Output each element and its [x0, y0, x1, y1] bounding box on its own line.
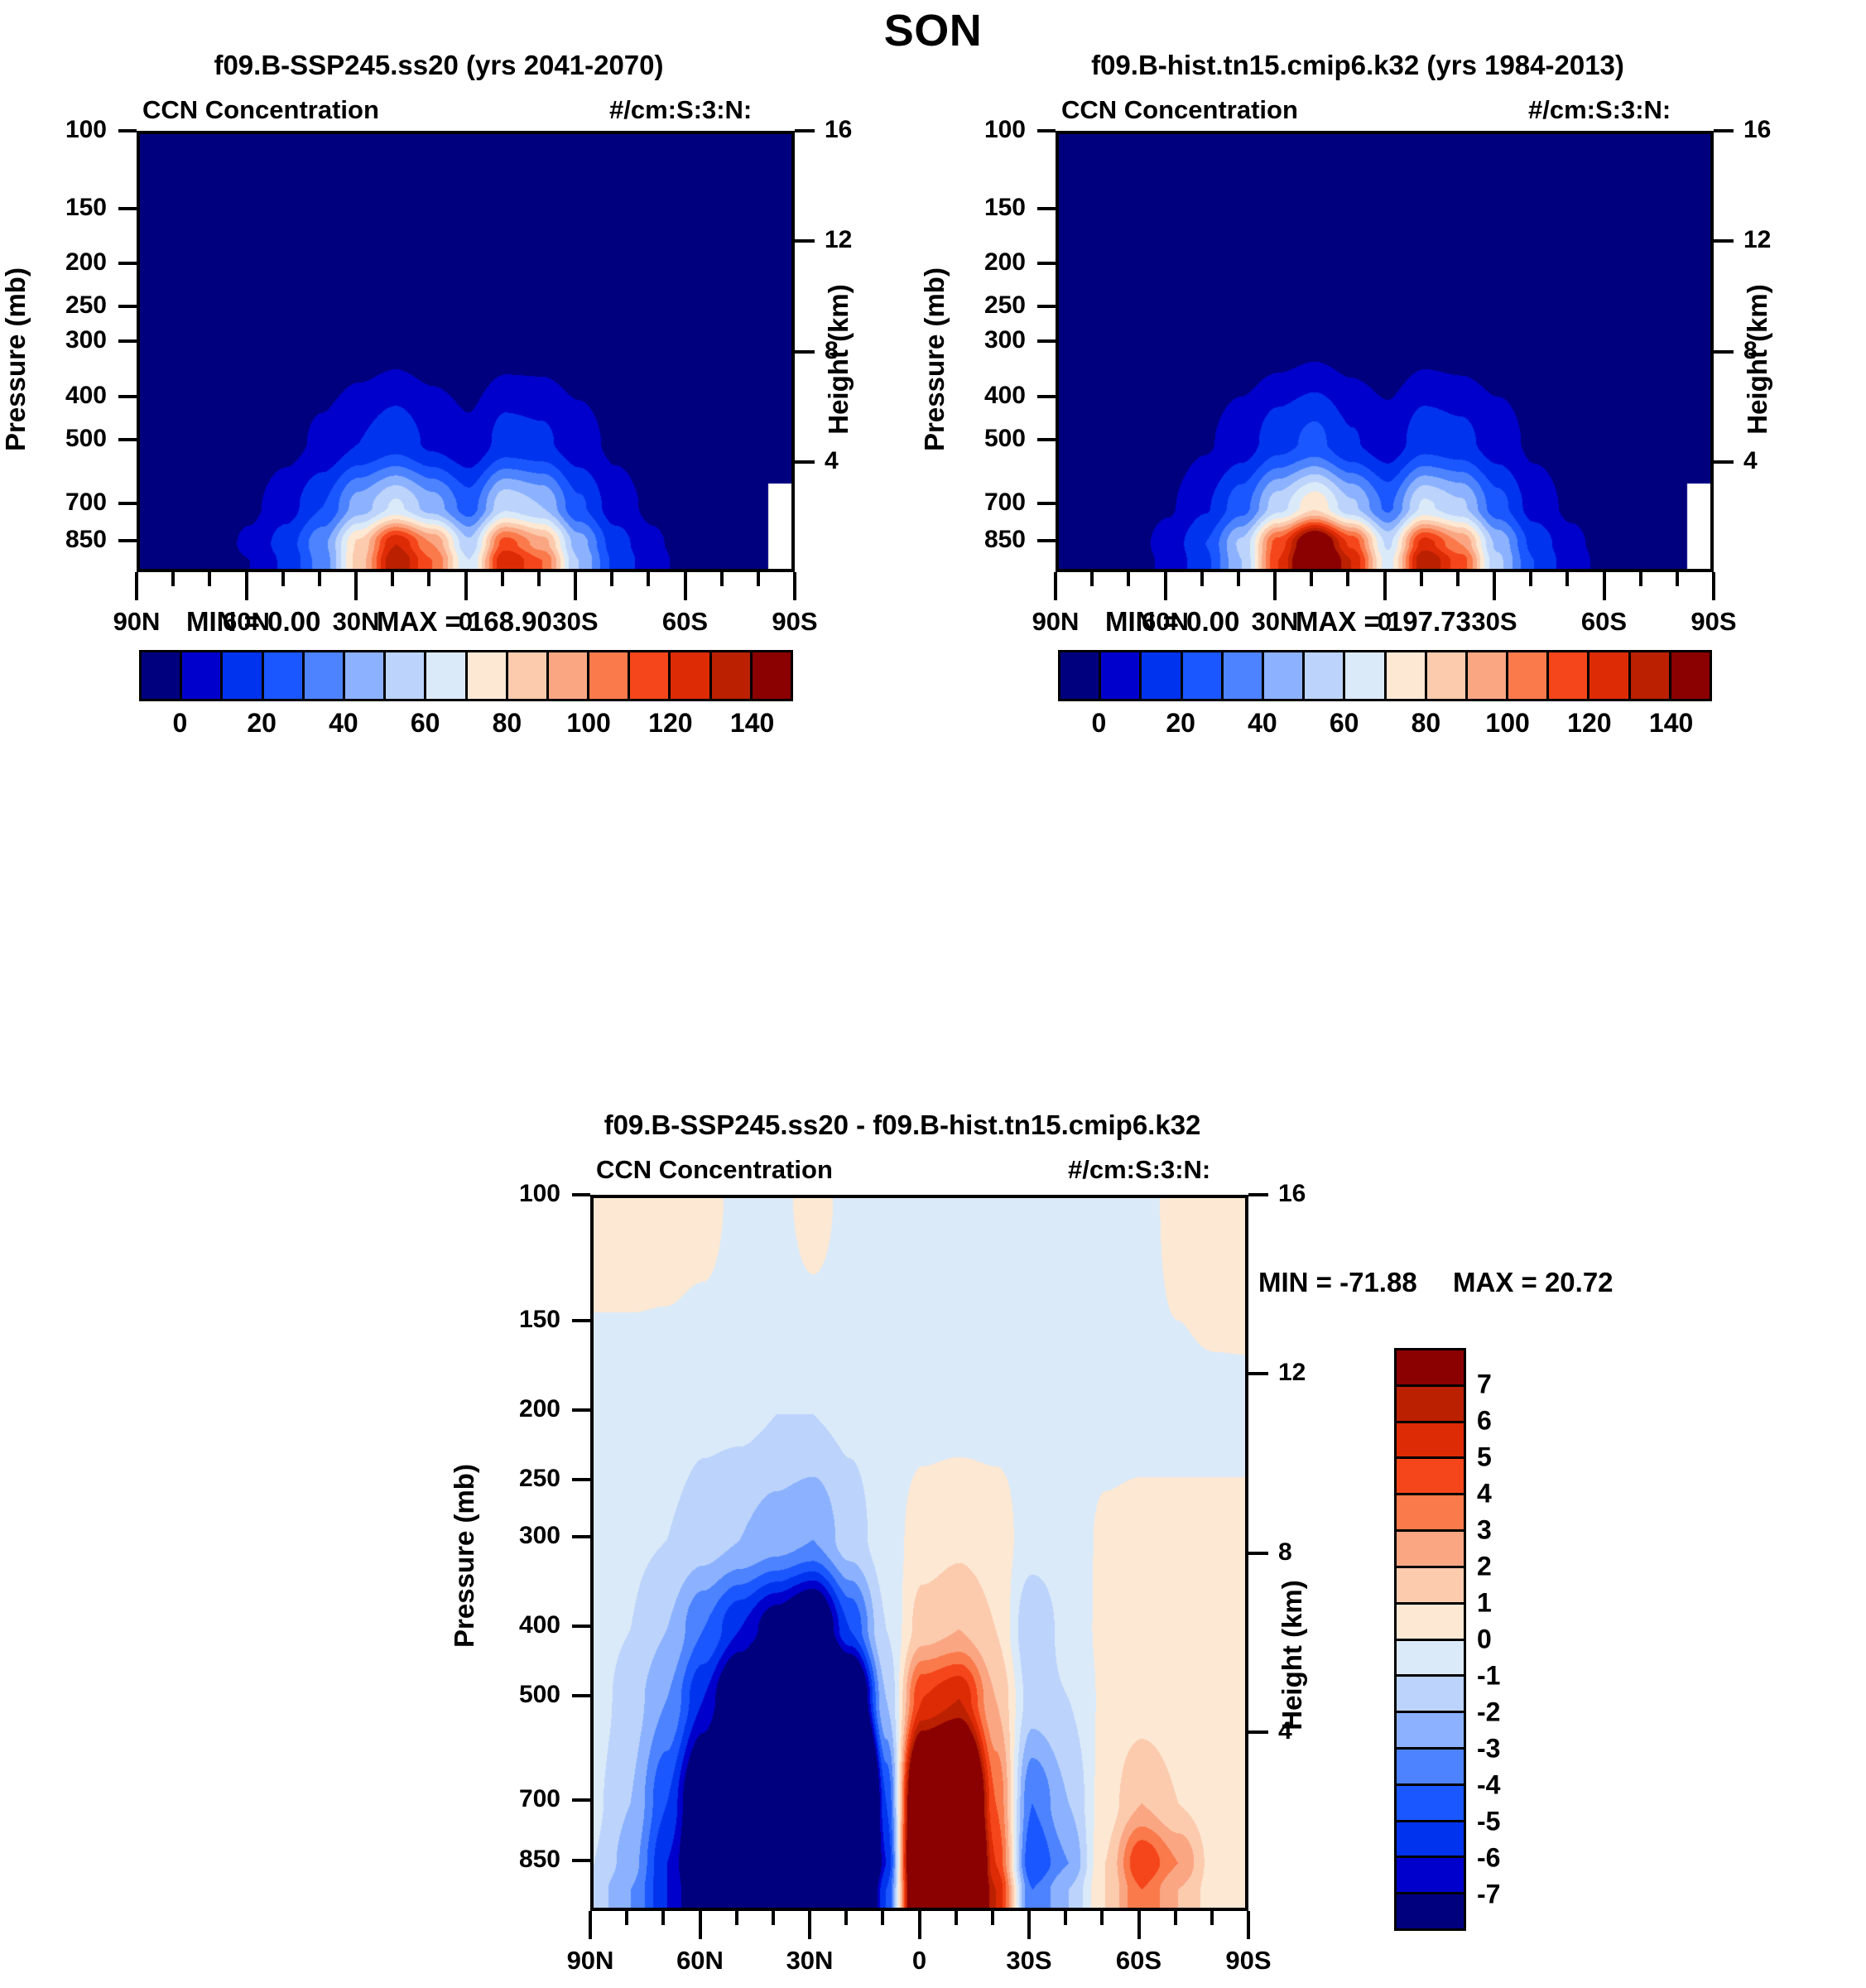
y-tick-label: 200: [940, 248, 1026, 277]
colorbar-segment: [1631, 652, 1671, 699]
x-tick-mark-minor: [735, 1911, 738, 1925]
colorbar-tick-label: -1: [1477, 1661, 1500, 1692]
y2-tick-label: 16: [1278, 1180, 1306, 1208]
colorbar-segment: [1183, 652, 1224, 699]
x-tick-mark-major: [1054, 572, 1057, 600]
y2-tick-label: 8: [1743, 337, 1758, 365]
colorbar-segment: [468, 652, 508, 699]
y-tick-label: 100: [940, 116, 1026, 144]
y-tick-label: 200: [474, 1395, 560, 1423]
x-tick-mark-major: [1493, 572, 1496, 600]
colorbar-labels-difference: 76543210-1-2-3-4-5-6-7: [1477, 1348, 1543, 1931]
y-tick-label: 200: [21, 248, 107, 277]
x-tick-mark-minor: [1310, 572, 1313, 586]
colorbar-tick-label: 0: [172, 708, 187, 739]
colorbar-segment: [1397, 1605, 1464, 1641]
colorbar-segment: [753, 652, 791, 699]
y-tick-mark: [1037, 129, 1056, 132]
x-tick-mark-minor: [1064, 1911, 1067, 1925]
colorbar-segment: [712, 652, 753, 699]
y-tick-mark: [572, 1478, 590, 1481]
y-tick-label: 250: [474, 1465, 560, 1493]
x-tick-label: 30N: [298, 607, 414, 637]
x-tick-mark-minor: [955, 1911, 958, 1925]
x-tick-label: 30N: [1217, 607, 1333, 637]
x-tick-mark-major: [793, 572, 796, 600]
colorbar-tick-label: -5: [1477, 1807, 1500, 1837]
y-tick-mark: [118, 502, 137, 505]
colorbar-tick-label: 120: [1567, 708, 1611, 739]
y-tick-mark: [118, 339, 137, 343]
y2-tick-mark: [1248, 1193, 1268, 1196]
x-tick-mark-minor: [1456, 572, 1460, 586]
y-tick-mark: [1037, 539, 1056, 542]
x-tick-mark-minor: [1420, 572, 1423, 586]
y-tick-label: 250: [940, 291, 1026, 320]
colorbar-labels-top-right: 020406080100120140: [1058, 708, 1712, 741]
x-tick-mark-major: [589, 1911, 592, 1939]
y-tick-mark: [572, 1408, 590, 1412]
y-tick-label: 500: [474, 1681, 560, 1709]
colorbar-tick-label: 0: [1091, 708, 1106, 739]
x-tick-mark-minor: [647, 572, 650, 586]
y-tick-label: 300: [940, 326, 1026, 354]
x-tick-mark-minor: [772, 1911, 775, 1925]
x-tick-mark-minor: [757, 572, 760, 586]
panel-units-label-top-left: #/cm:S:3:N:: [609, 95, 752, 125]
colorbar-tick-label: 1: [1477, 1588, 1492, 1619]
colorbar-tick-label: -2: [1477, 1697, 1500, 1728]
y2-tick-mark: [1248, 1730, 1268, 1734]
panel-title-top-left: f09.B-SSP245.ss20 (yrs 2041-2070): [0, 50, 878, 81]
x-tick-mark-minor: [1090, 572, 1094, 586]
colorbar-segment: [142, 652, 182, 699]
panel-top-right: f09.B-hist.tn15.cmip6.k32 (yrs 1984-2013…: [919, 50, 1796, 1093]
y-tick-label: 400: [21, 382, 107, 410]
colorbar-segment: [1345, 652, 1386, 699]
y2-tick-mark: [1714, 239, 1734, 243]
y2-tick-mark: [1248, 1552, 1268, 1555]
panel-title-top-right: f09.B-hist.tn15.cmip6.k32 (yrs 1984-2013…: [919, 50, 1796, 81]
y-tick-mark: [118, 305, 137, 308]
x-tick-label: 90N: [532, 1946, 648, 1976]
x-tick-mark-major: [918, 1911, 921, 1939]
x-tick-mark-major: [1247, 1911, 1250, 1939]
colorbar-segment: [549, 652, 589, 699]
y-tick-label: 400: [940, 382, 1026, 410]
x-tick-mark-minor: [1174, 1911, 1177, 1925]
panel-variable-label-difference: CCN Concentration: [596, 1155, 833, 1185]
y-tick-label: 700: [940, 489, 1026, 517]
colorbar-segment: [1224, 652, 1264, 699]
panel-difference: f09.B-SSP245.ss20 - f09.B-hist.tn15.cmip…: [464, 1110, 1341, 1988]
colorbar-tick-label: 7: [1477, 1369, 1492, 1400]
colorbar-tick-label: 0: [1477, 1625, 1492, 1655]
plot-area-top-right[interactable]: [1056, 131, 1714, 572]
x-tick-mark-minor: [1565, 572, 1569, 586]
panel-variable-label-top-left: CCN Concentration: [142, 95, 379, 125]
colorbar-segment: [1397, 1822, 1464, 1859]
colorbar-tick-label: 140: [730, 708, 774, 739]
y-tick-label: 850: [940, 526, 1026, 554]
x-tick-label: 60N: [642, 1946, 758, 1976]
colorbar-tick-label: 40: [329, 708, 358, 739]
x-tick-mark-minor: [171, 572, 175, 586]
y-tick-mark: [572, 1535, 590, 1538]
y-tick-label: 300: [21, 326, 107, 354]
x-tick-mark-minor: [1100, 1911, 1104, 1925]
x-tick-mark-major: [684, 572, 687, 600]
y2-tick-mark: [795, 129, 815, 132]
colorbar-segment: [1397, 1532, 1464, 1568]
y2-tick-label: 12: [825, 226, 852, 254]
colorbar-segment: [1468, 652, 1508, 699]
y-tick-label: 250: [21, 291, 107, 320]
colorbar-segment: [1101, 652, 1142, 699]
y-tick-mark: [118, 129, 137, 132]
colorbar-tick-label: 20: [247, 708, 277, 739]
figure-title: SON: [0, 5, 1866, 56]
contour-canvas-difference: [594, 1198, 1248, 1911]
y-tick-label: 100: [21, 116, 107, 144]
x-tick-mark-major: [354, 572, 358, 600]
colorbar-top-left[interactable]: [139, 650, 793, 701]
x-tick-mark-major: [1137, 1911, 1141, 1939]
colorbar-tick-label: 100: [1485, 708, 1529, 739]
x-tick-mark-minor: [1676, 572, 1679, 586]
colorbar-segment: [426, 652, 467, 699]
y-tick-mark: [118, 395, 137, 398]
colorbar-segment: [1387, 652, 1427, 699]
x-tick-label: 0: [1327, 607, 1443, 637]
y-tick-mark: [1037, 395, 1056, 398]
y2-tick-label: 8: [1278, 1538, 1292, 1567]
colorbar-difference[interactable]: [1394, 1348, 1466, 1931]
x-tick-label: 60S: [1081, 1946, 1197, 1976]
colorbar-segment: [1549, 652, 1589, 699]
y-tick-mark: [118, 539, 137, 542]
y-tick-label: 150: [21, 194, 107, 222]
y-tick-mark: [1037, 262, 1056, 265]
x-tick-mark-major: [1164, 572, 1167, 600]
colorbar-tick-label: 100: [566, 708, 610, 739]
colorbar-tick-label: 60: [1330, 708, 1359, 739]
colorbar-segment: [182, 652, 223, 699]
y2-tick-mark: [1714, 460, 1734, 464]
x-tick-mark-minor: [1210, 1911, 1214, 1925]
x-tick-mark-major: [1712, 572, 1715, 600]
colorbar-tick-label: -3: [1477, 1734, 1500, 1764]
colorbar-tick-label: 80: [493, 708, 522, 739]
colorbar-top-right[interactable]: [1058, 650, 1712, 701]
colorbar-segment: [1397, 1677, 1464, 1713]
y-tick-mark: [1037, 305, 1056, 308]
panel-title-difference: f09.B-SSP245.ss20 - f09.B-hist.tn15.cmip…: [488, 1110, 1316, 1141]
y-tick-mark: [1037, 339, 1056, 343]
x-tick-mark-minor: [318, 572, 321, 586]
y-tick-mark: [572, 1859, 590, 1862]
colorbar-segment: [1671, 652, 1710, 699]
colorbar-tick-label: 2: [1477, 1552, 1492, 1582]
y-tick-label: 150: [474, 1306, 560, 1334]
x-tick-label: 90S: [1190, 1946, 1306, 1976]
x-tick-mark-minor: [501, 572, 504, 586]
y2-tick-label: 16: [825, 116, 852, 144]
y-tick-label: 850: [21, 526, 107, 554]
colorbar-segment: [1589, 652, 1630, 699]
x-tick-mark-minor: [610, 572, 613, 586]
colorbar-segment: [630, 652, 671, 699]
colorbar-segment: [1397, 1750, 1464, 1786]
y2-tick-label: 4: [825, 447, 839, 475]
colorbar-tick-label: -6: [1477, 1843, 1500, 1874]
colorbar-labels-top-left: 020406080100120140: [139, 708, 793, 741]
y-tick-mark: [118, 438, 137, 441]
y2-tick-label: 12: [1278, 1359, 1306, 1387]
x-tick-label: 0: [408, 607, 524, 637]
x-tick-label: 60S: [1546, 607, 1662, 637]
x-tick-mark-major: [464, 572, 468, 600]
x-tick-mark-major: [1273, 572, 1277, 600]
y-tick-label: 500: [940, 425, 1026, 453]
y2-tick-label: 4: [1743, 447, 1758, 475]
colorbar-tick-label: -7: [1477, 1880, 1500, 1910]
min-label-difference: MIN = -71.88: [1258, 1267, 1417, 1298]
x-tick-mark-major: [135, 572, 138, 600]
colorbar-segment: [589, 652, 630, 699]
colorbar-segment: [1397, 1641, 1464, 1678]
colorbar-segment: [1397, 1858, 1464, 1894]
colorbar-tick-label: 120: [648, 708, 692, 739]
x-tick-mark-minor: [844, 1911, 848, 1925]
colorbar-segment: [345, 652, 386, 699]
y2-tick-label: 16: [1743, 116, 1771, 144]
y-tick-mark: [572, 1694, 590, 1697]
y2-tick-mark: [1714, 129, 1734, 132]
contour-canvas-top-left: [140, 134, 795, 572]
x-tick-mark-minor: [1529, 572, 1532, 586]
colorbar-tick-label: 5: [1477, 1442, 1492, 1473]
x-tick-label: 0: [862, 1946, 978, 1976]
x-tick-mark-major: [1383, 572, 1387, 600]
x-tick-mark-minor: [1346, 572, 1349, 586]
colorbar-segment: [1397, 1387, 1464, 1423]
x-tick-mark-major: [699, 1911, 702, 1939]
y-tick-label: 700: [21, 489, 107, 517]
colorbar-segment: [1397, 1423, 1464, 1460]
x-tick-label: 90N: [79, 607, 195, 637]
colorbar-tick-label: 80: [1412, 708, 1441, 739]
y-tick-mark: [1037, 438, 1056, 441]
x-tick-label: 30S: [971, 1946, 1087, 1976]
y-tick-label: 150: [940, 194, 1026, 222]
colorbar-segment: [223, 652, 263, 699]
colorbar-segment: [1060, 652, 1101, 699]
colorbar-segment: [386, 652, 426, 699]
colorbar-tick-label: 3: [1477, 1515, 1492, 1546]
y-tick-mark: [572, 1193, 590, 1196]
figure-root: SON f09.B-SSP245.ss20 (yrs 2041-2070) CC…: [0, 0, 1866, 1988]
y2-tick-label: 8: [825, 337, 839, 365]
x-tick-label: 60N: [189, 607, 305, 637]
x-tick-mark-minor: [881, 1911, 884, 1925]
colorbar-segment: [1397, 1568, 1464, 1605]
colorbar-segment: [1264, 652, 1305, 699]
x-tick-mark-minor: [1237, 572, 1240, 586]
x-tick-label: 90S: [1656, 607, 1772, 637]
x-tick-mark-minor: [391, 572, 394, 586]
x-tick-mark-minor: [1127, 572, 1130, 586]
y2-axis-label-difference: Height (km): [1277, 1580, 1308, 1730]
x-tick-label: 90S: [737, 607, 853, 637]
y-tick-mark: [572, 1319, 590, 1322]
x-tick-label: 30N: [752, 1946, 868, 1976]
x-tick-mark-major: [1027, 1911, 1031, 1939]
panel-top-left: f09.B-SSP245.ss20 (yrs 2041-2070) CCN Co…: [0, 50, 878, 1093]
colorbar-segment: [671, 652, 711, 699]
x-tick-mark-major: [808, 1911, 811, 1939]
y-tick-mark: [1037, 502, 1056, 505]
plot-area-top-left[interactable]: [137, 131, 795, 572]
x-tick-mark-minor: [1200, 572, 1204, 586]
y2-tick-mark: [795, 460, 815, 464]
x-tick-mark-minor: [720, 572, 724, 586]
x-tick-label: 30S: [1436, 607, 1552, 637]
y2-tick-mark: [795, 350, 815, 354]
y-tick-label: 100: [474, 1180, 560, 1208]
colorbar-segment: [1397, 1459, 1464, 1495]
x-tick-mark-minor: [625, 1911, 628, 1925]
colorbar-tick-label: 4: [1477, 1479, 1492, 1509]
colorbar-segment: [264, 652, 305, 699]
colorbar-tick-label: 60: [411, 708, 440, 739]
panel-units-label-top-right: #/cm:S:3:N:: [1528, 95, 1671, 125]
plot-area-difference[interactable]: [590, 1195, 1248, 1911]
max-label-difference: MAX = 20.72: [1453, 1267, 1614, 1298]
x-tick-mark-major: [1603, 572, 1606, 600]
x-tick-mark-minor: [537, 572, 541, 586]
x-tick-mark-minor: [281, 572, 285, 586]
y-tick-mark: [572, 1625, 590, 1628]
colorbar-tick-label: -4: [1477, 1770, 1500, 1801]
y-tick-mark: [1037, 207, 1056, 210]
y-tick-mark: [118, 262, 137, 265]
x-tick-label: 30S: [517, 607, 633, 637]
y2-tick-label: 4: [1278, 1717, 1292, 1745]
y2-tick-mark: [1714, 350, 1734, 354]
y-tick-label: 400: [474, 1611, 560, 1639]
y-tick-mark: [572, 1798, 590, 1802]
colorbar-segment: [1397, 1786, 1464, 1822]
colorbar-segment: [1397, 1350, 1464, 1387]
colorbar-segment: [1397, 1495, 1464, 1532]
colorbar-segment: [508, 652, 549, 699]
panel-variable-label-top-right: CCN Concentration: [1061, 95, 1298, 125]
y-tick-label: 700: [474, 1785, 560, 1813]
x-tick-label: 90N: [998, 607, 1113, 637]
y2-tick-mark: [1248, 1372, 1268, 1375]
y-tick-label: 300: [474, 1522, 560, 1550]
colorbar-segment: [1142, 652, 1182, 699]
x-tick-mark-minor: [991, 1911, 994, 1925]
colorbar-segment: [1427, 652, 1468, 699]
y2-tick-mark: [795, 239, 815, 243]
colorbar-segment: [305, 652, 345, 699]
colorbar-tick-label: 20: [1166, 708, 1195, 739]
colorbar-tick-label: 140: [1649, 708, 1693, 739]
panel-units-label-difference: #/cm:S:3:N:: [1068, 1155, 1210, 1185]
colorbar-segment: [1397, 1894, 1464, 1928]
x-tick-mark-minor: [427, 572, 430, 586]
x-tick-mark-major: [574, 572, 577, 600]
y2-tick-label: 12: [1743, 226, 1771, 254]
x-tick-label: 60S: [628, 607, 743, 637]
colorbar-tick-label: 6: [1477, 1406, 1492, 1437]
x-tick-label: 60N: [1108, 607, 1224, 637]
y-tick-mark: [118, 207, 137, 210]
x-tick-mark-minor: [208, 572, 211, 586]
colorbar-tick-label: 40: [1248, 708, 1277, 739]
colorbar-segment: [1305, 652, 1345, 699]
colorbar-segment: [1508, 652, 1549, 699]
x-tick-mark-major: [245, 572, 248, 600]
x-tick-mark-minor: [1639, 572, 1642, 586]
y-tick-label: 850: [474, 1846, 560, 1874]
contour-canvas-top-right: [1059, 134, 1714, 572]
y-tick-label: 500: [21, 425, 107, 453]
colorbar-segment: [1397, 1713, 1464, 1750]
x-tick-mark-minor: [661, 1911, 665, 1925]
